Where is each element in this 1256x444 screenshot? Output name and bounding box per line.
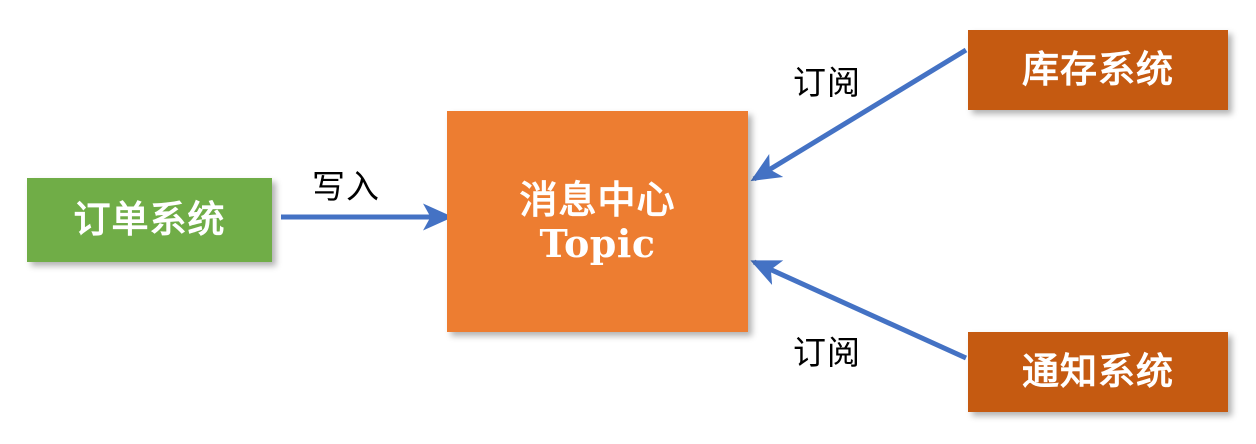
edge-label-write: 写入 [312, 160, 380, 208]
node-inventory-system[interactable]: 库存系统 [968, 30, 1228, 110]
node-message-center-topic[interactable]: 消息中心 Topic [447, 111, 748, 332]
edge-label-subscribe-top: 订阅 [793, 56, 861, 104]
node-notification-system-label: 通知系统 [1022, 352, 1174, 392]
diagram-canvas: 写入 订阅 订阅 订单系统 消息中心 Topic 库存系统 通知系统 [0, 0, 1256, 444]
node-message-center-topic-label-cjk: 消息中心 [519, 179, 675, 220]
node-message-center-topic-label-latin: Topic [540, 223, 656, 264]
node-order-system-label: 订单系统 [74, 200, 226, 240]
node-order-system[interactable]: 订单系统 [27, 178, 272, 262]
node-notification-system[interactable]: 通知系统 [968, 332, 1228, 412]
node-inventory-system-label: 库存系统 [1022, 50, 1174, 90]
edge-label-subscribe-bottom: 订阅 [793, 326, 861, 374]
